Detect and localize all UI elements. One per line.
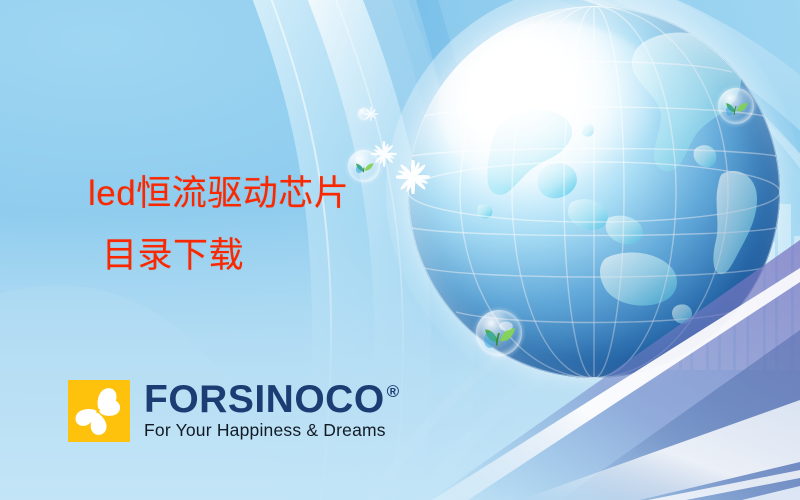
brand-logo: FORSINOCO ® For Your Happiness & Dreams: [68, 380, 400, 442]
brand-tagline: For Your Happiness & Dreams: [144, 420, 400, 441]
bubble-with-sprout: [718, 88, 754, 124]
bubble-with-sprout: [476, 310, 522, 356]
sparkle-starburst: [396, 160, 430, 194]
brand-text: FORSINOCO ® For Your Happiness & Dreams: [144, 381, 400, 441]
pinwheel-flower-mark: [68, 380, 130, 442]
brand-name: FORSINOCO ®: [144, 381, 400, 418]
bubble-small: [358, 108, 370, 120]
headline-line-1: led恒流驱动芯片: [88, 174, 349, 213]
bubble-with-sprout: [348, 150, 380, 182]
headline: led恒流驱动芯片 目录下载: [88, 163, 349, 287]
headline-line-2: 目录下载: [102, 225, 349, 287]
brand-wordmark: FORSINOCO: [144, 381, 385, 418]
registered-trademark-icon: ®: [387, 384, 400, 400]
banner-canvas: led恒流驱动芯片 目录下载 FORSINOCO ® For Your Happ…: [0, 0, 800, 500]
